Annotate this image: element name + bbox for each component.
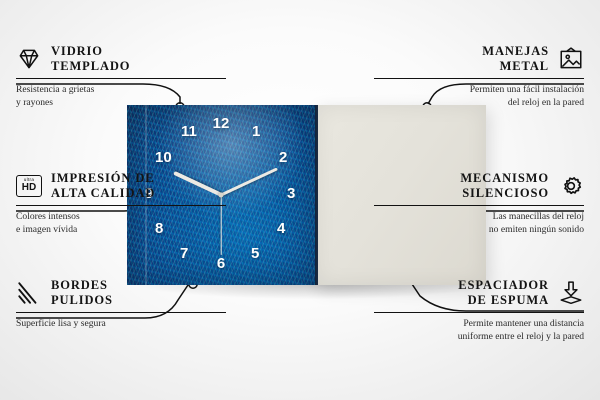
clock-number: 1 bbox=[252, 123, 260, 140]
clock-number: 4 bbox=[277, 220, 285, 237]
feature-description: Permiten una fácil instalación del reloj… bbox=[374, 84, 584, 110]
ultra-hd-icon: ultra HD bbox=[16, 173, 42, 199]
feature-title-row: ultra HD IMPRESIÓN DE ALTA CALIDAD bbox=[16, 171, 226, 201]
feature-description: Las manecillas del reloj no emiten ningú… bbox=[374, 211, 584, 237]
feature-title-row: VIDRIO TEMPLADO bbox=[16, 44, 226, 74]
feature-divider bbox=[374, 205, 584, 207]
feature-espaciador-espuma: ESPACIADOR DE ESPUMA Permite mantener un… bbox=[374, 278, 584, 344]
feature-divider bbox=[374, 312, 584, 314]
feature-title: MANEJAS METAL bbox=[482, 44, 549, 74]
feature-title: MECANISMO SILENCIOSO bbox=[460, 171, 549, 201]
feature-divider bbox=[374, 78, 584, 80]
feature-description: Resistencia a grietas y rayones bbox=[16, 84, 226, 110]
feature-divider bbox=[16, 78, 226, 80]
feature-bordes-pulidos: BORDES PULIDOS Superficie lisa y segura bbox=[16, 278, 226, 331]
feature-title: IMPRESIÓN DE ALTA CALIDAD bbox=[51, 171, 155, 201]
feature-title-row: MANEJAS METAL bbox=[374, 44, 584, 74]
feature-description: Superficie lisa y segura bbox=[16, 318, 226, 331]
clock-number: 10 bbox=[155, 149, 172, 166]
infographic-stage: 12 1 2 3 4 5 6 7 8 9 10 11 VIDRIO TEMPLA… bbox=[0, 0, 600, 400]
gear-icon bbox=[558, 173, 584, 199]
clock-number: 7 bbox=[180, 245, 188, 262]
feature-divider bbox=[16, 312, 226, 314]
hd-badge: ultra HD bbox=[16, 175, 42, 197]
diagonal-lines-icon bbox=[16, 280, 42, 306]
feature-title-row: MECANISMO SILENCIOSO bbox=[374, 171, 584, 201]
feature-mecanismo-silencioso: MECANISMO SILENCIOSO Las manecillas del … bbox=[374, 171, 584, 237]
diamond-icon bbox=[16, 46, 42, 72]
feature-title: VIDRIO TEMPLADO bbox=[51, 44, 130, 74]
feature-title-row: ESPACIADOR DE ESPUMA bbox=[374, 278, 584, 308]
clock-number: 12 bbox=[213, 115, 230, 132]
picture-frame-icon bbox=[558, 46, 584, 72]
feature-manejas-metal: MANEJAS METAL Permiten una fácil instala… bbox=[374, 44, 584, 110]
feature-title: BORDES PULIDOS bbox=[51, 278, 113, 308]
clock-number: 11 bbox=[181, 123, 197, 140]
feature-title-row: BORDES PULIDOS bbox=[16, 278, 226, 308]
clock-number: 2 bbox=[279, 149, 287, 166]
clock-number: 3 bbox=[287, 185, 295, 202]
feature-description: Permite mantener una distancia uniforme … bbox=[374, 318, 584, 344]
clock-number: 5 bbox=[251, 245, 259, 262]
arrow-down-pad-icon bbox=[558, 280, 584, 306]
feature-description: Colores intensos e imagen vívida bbox=[16, 211, 226, 237]
clock-number: 6 bbox=[217, 255, 225, 272]
feature-vidrio-templado: VIDRIO TEMPLADO Resistencia a grietas y … bbox=[16, 44, 226, 110]
feature-title: ESPACIADOR DE ESPUMA bbox=[458, 278, 549, 308]
feature-impresion-alta-calidad: ultra HD IMPRESIÓN DE ALTA CALIDAD Color… bbox=[16, 171, 226, 237]
feature-divider bbox=[16, 205, 226, 207]
